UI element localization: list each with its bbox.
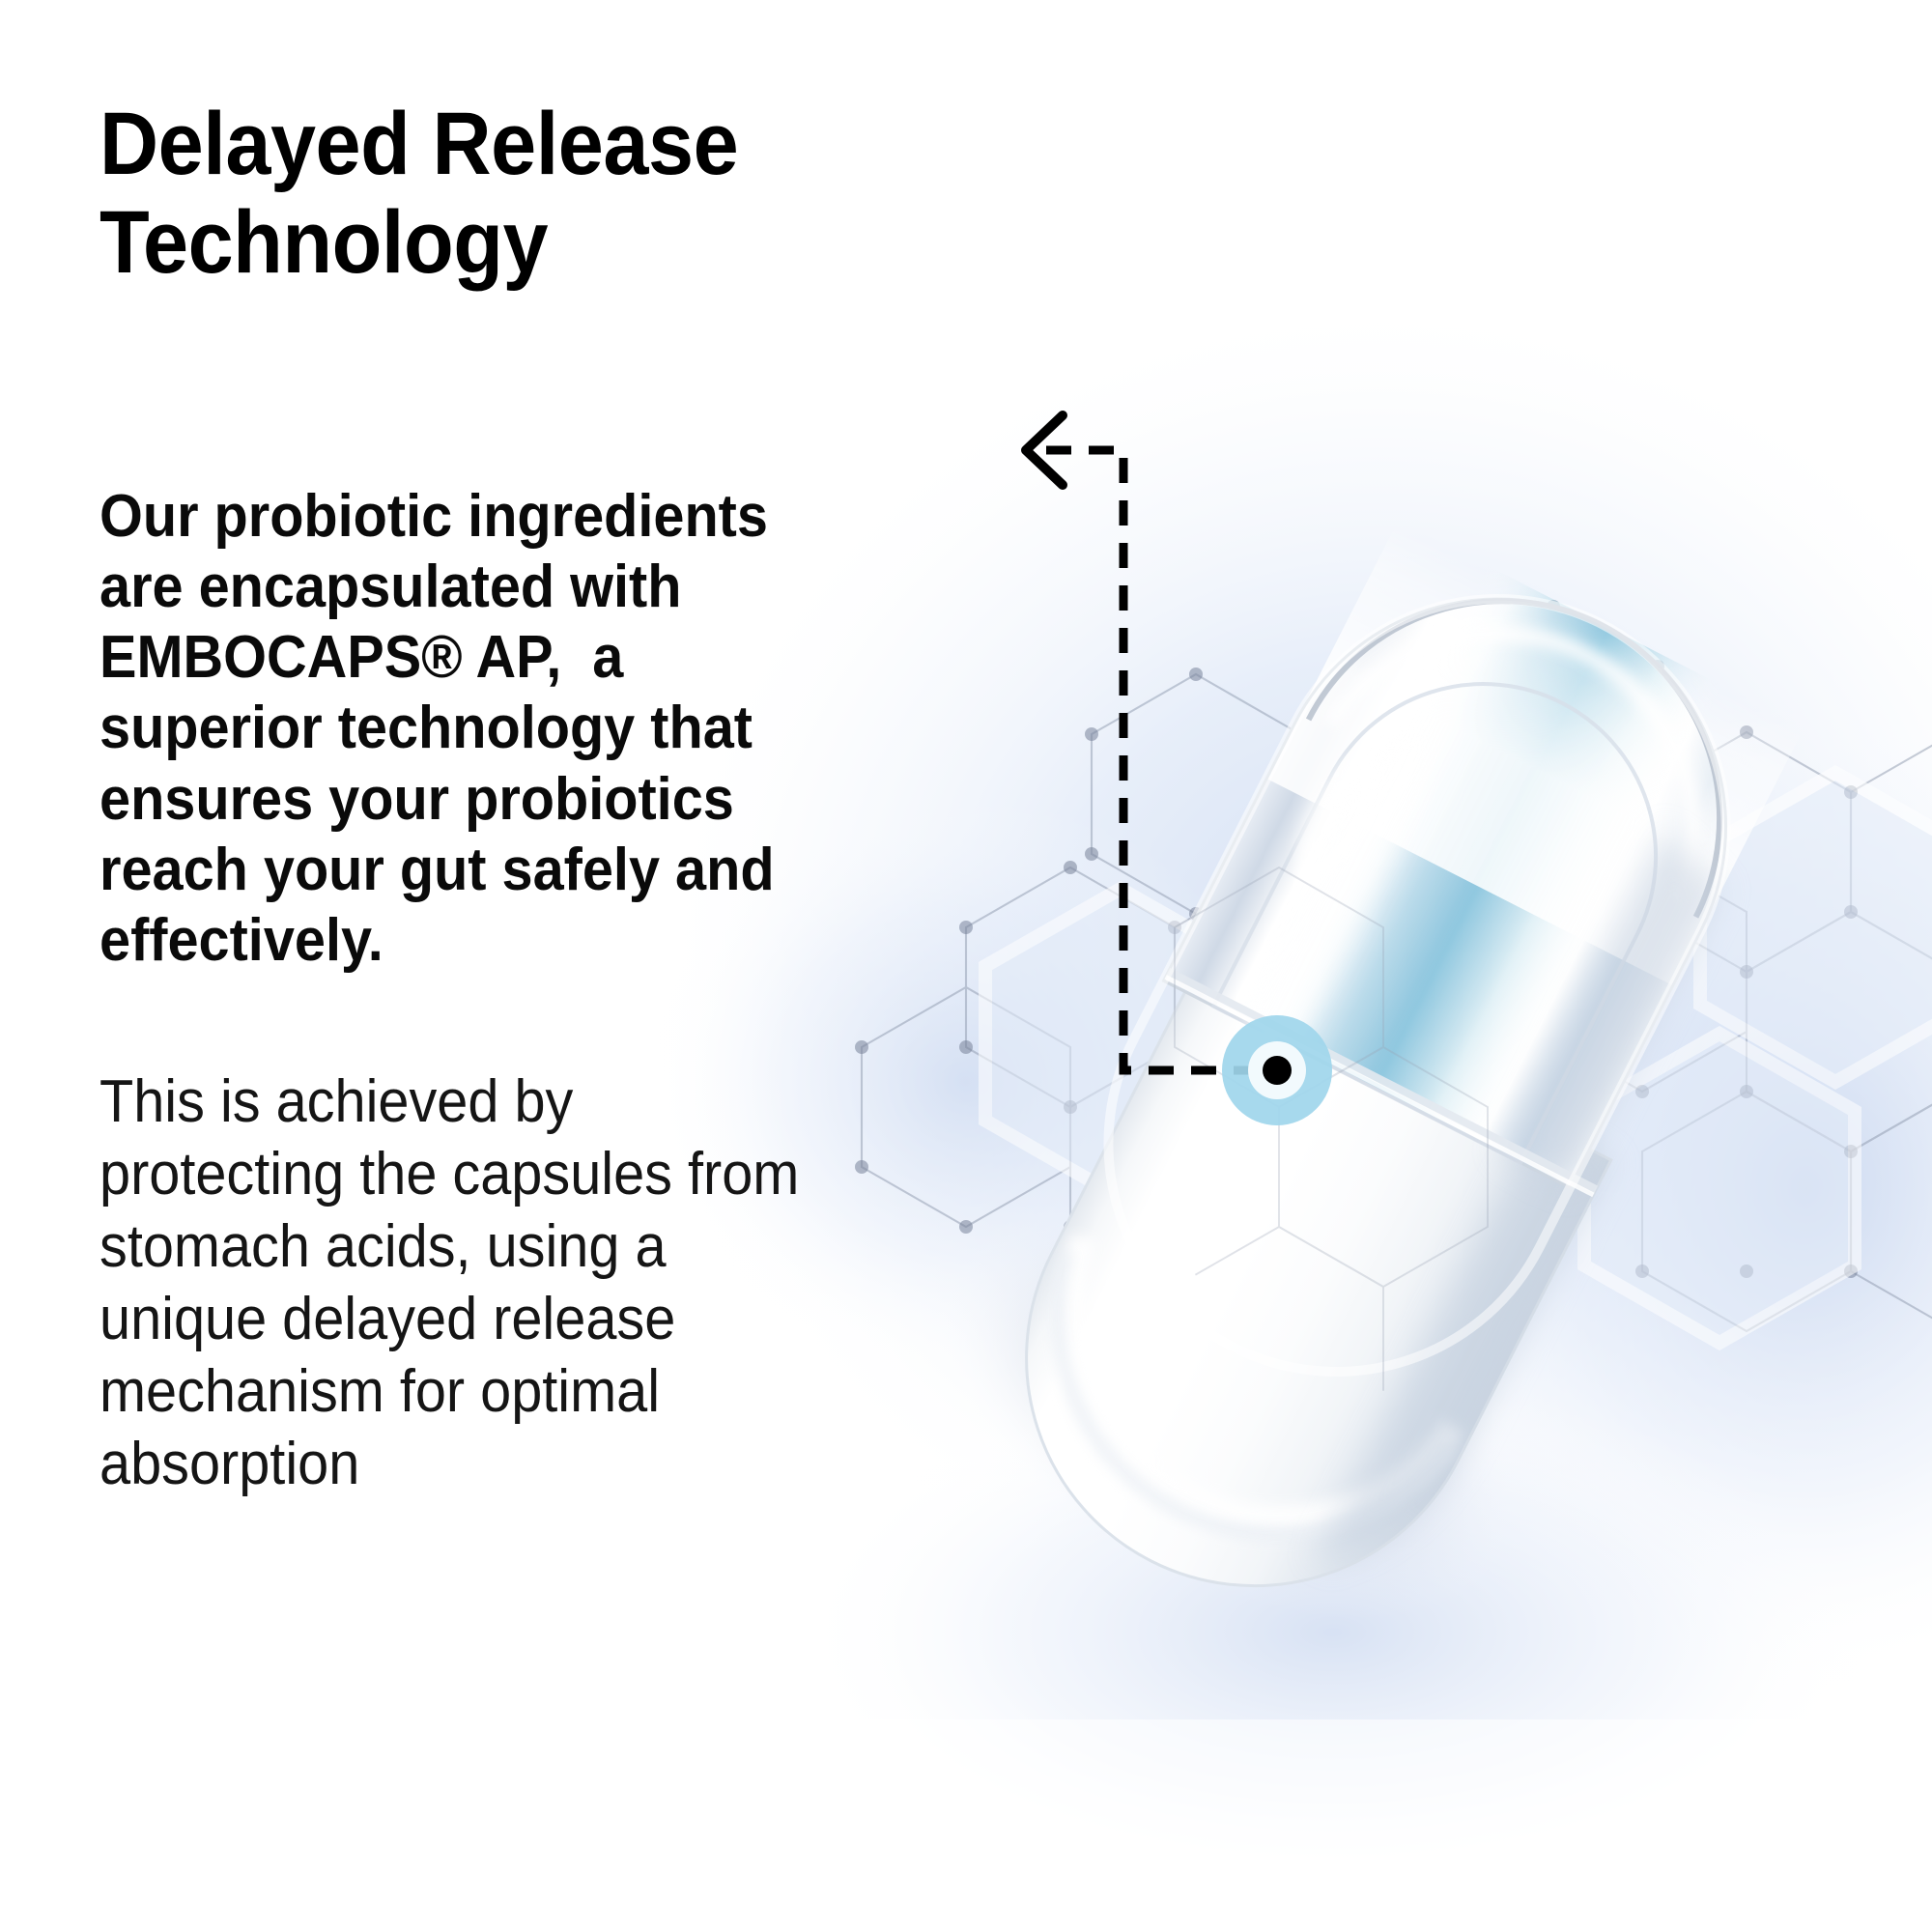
secondary-description: This is achieved by protecting the capsu… — [99, 1065, 810, 1500]
primary-description: Our probiotic ingredients are encapsulat… — [99, 481, 845, 976]
text-column: Delayed Release Technology Our probiotic… — [99, 95, 1008, 292]
page-title: Delayed Release Technology — [99, 95, 793, 292]
delayed-release-technology-infographic: Delayed Release Technology Our probiotic… — [0, 0, 1932, 1932]
bottom-fade — [0, 1719, 1932, 1932]
